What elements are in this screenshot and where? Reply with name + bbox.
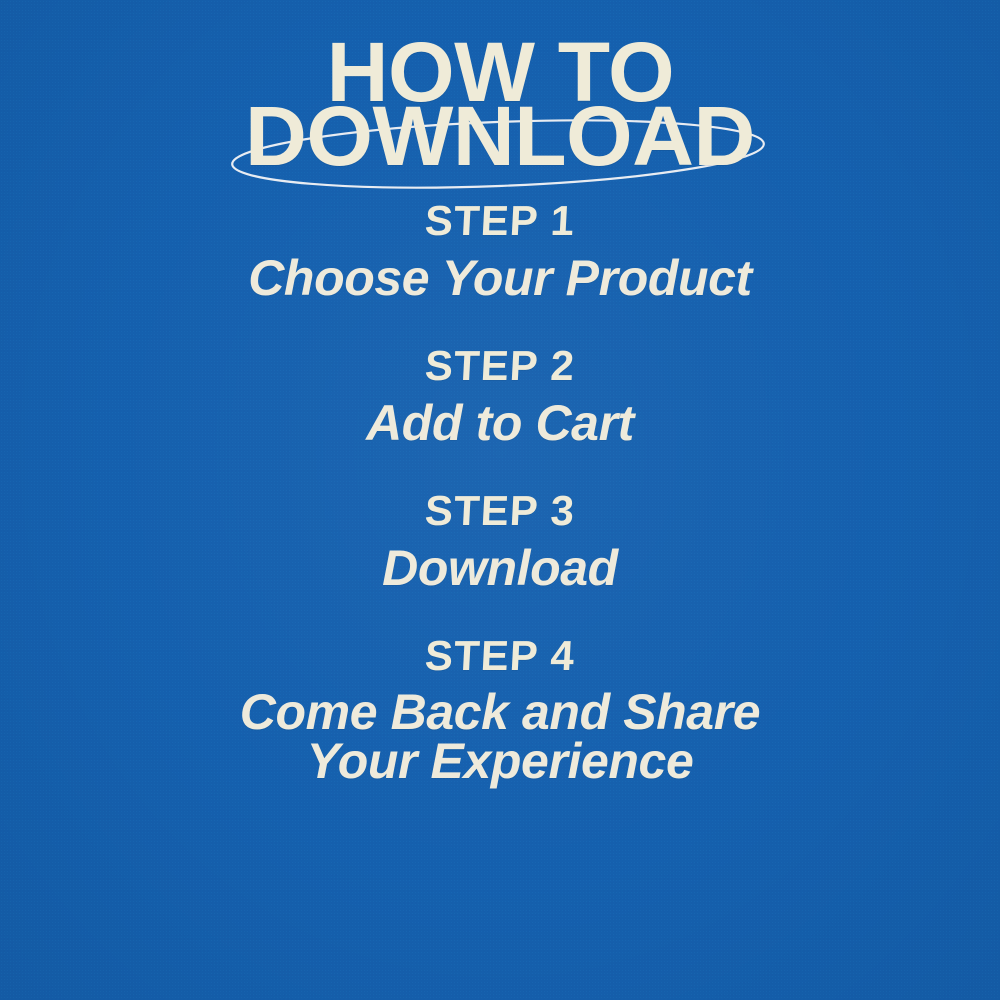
step-item-1: STEP 1 Choose Your Product — [0, 200, 1000, 304]
step-4-title-line-1: Come Back and Share — [0, 688, 1000, 737]
page-title-line-2: DOWNLOAD — [0, 102, 1000, 171]
step-2-label: STEP 2 — [0, 345, 1000, 387]
step-1-label: STEP 1 — [0, 200, 1000, 242]
step-4-label: STEP 4 — [0, 635, 1000, 677]
poster-canvas: HOW TO DOWNLOAD STEP 1 Choose Your Produ… — [0, 0, 1000, 1000]
step-1-title: Choose Your Product — [0, 253, 1000, 304]
step-3-label: STEP 3 — [0, 490, 1000, 532]
poster-title-block: HOW TO DOWNLOAD — [0, 30, 1000, 190]
step-2-title: Add to Cart — [0, 398, 1000, 449]
step-3-title: Download — [0, 543, 1000, 594]
step-item-4: STEP 4 Come Back and Share Your Experien… — [0, 635, 1000, 785]
page-title-line-2-text: DOWNLOAD — [245, 102, 755, 171]
steps-list: STEP 1 Choose Your Product STEP 2 Add to… — [0, 200, 1000, 785]
step-item-2: STEP 2 Add to Cart — [0, 345, 1000, 449]
step-4-title-line-2: Your Experience — [0, 737, 1000, 786]
step-item-3: STEP 3 Download — [0, 490, 1000, 594]
